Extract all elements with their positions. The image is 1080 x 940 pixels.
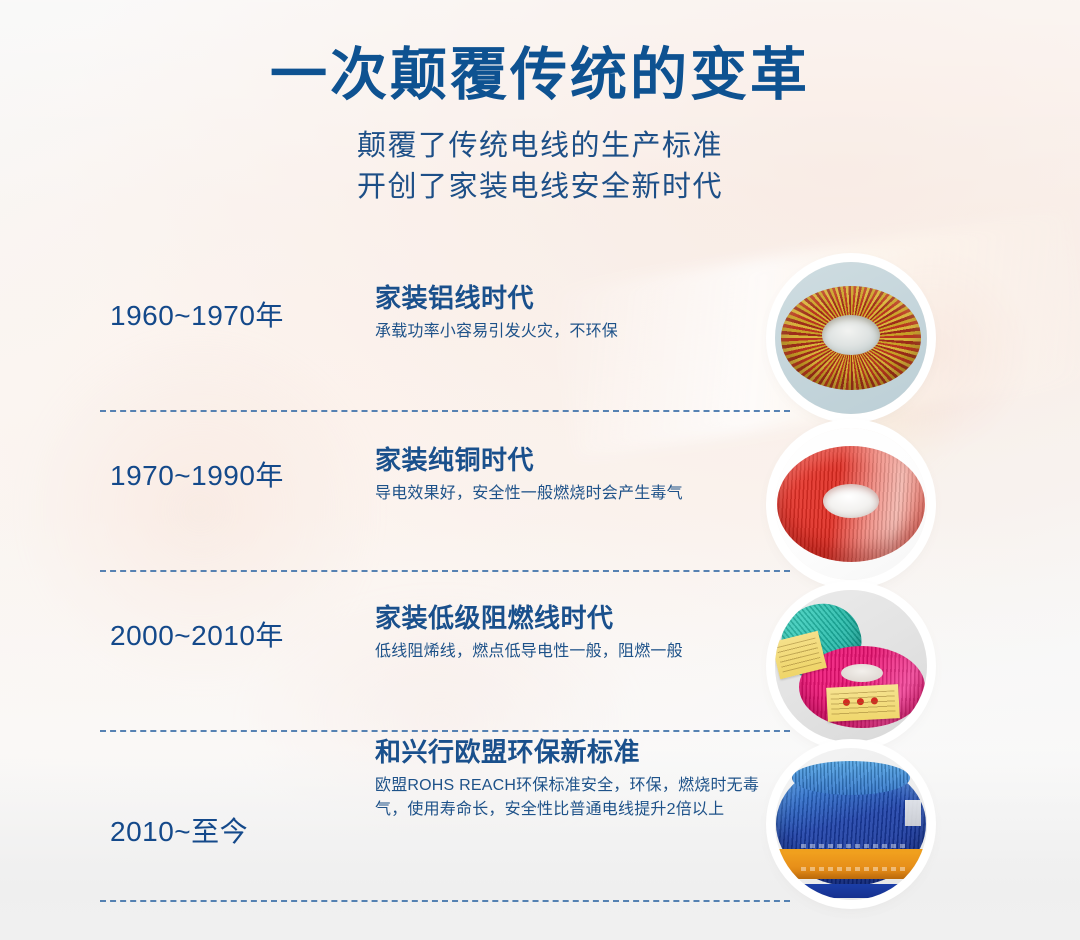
timeline-row-desc: 欧盟ROHS REACH环保标准安全，环保，燃烧时无毒气，使用寿命长，安全性比普… [375, 774, 765, 822]
photo-scene [775, 590, 927, 742]
photo-scene [775, 262, 927, 414]
subtitle-line-1: 颠覆了传统电线的生产标准 [0, 126, 1080, 167]
wire-coil-hole [822, 315, 880, 355]
timeline-year-label: 1960~1970年 [110, 294, 284, 334]
pink-teal-wire-coil-photo[interactable] [775, 590, 927, 742]
timeline-row-title: 家装低级阻燃线时代 [375, 598, 775, 635]
timeline-copy: 家装低级阻燃线时代 低线阻烯线，燃点低导电性一般，阻燃一般 [375, 598, 775, 664]
coil-print-text-line [801, 867, 905, 871]
yellow-red-twisted-wire-coil-photo[interactable] [775, 262, 927, 414]
timeline-year-label: 2010~至今 [110, 810, 248, 850]
timeline-year-label: 1970~1990年 [110, 454, 284, 494]
blue-wire-coil-photo[interactable] [775, 748, 927, 900]
timeline-copy: 家装纯铜时代 导电效果好，安全性一般燃烧时会产生毒气 [375, 440, 775, 506]
timeline-row-title: 家装纯铜时代 [375, 440, 775, 477]
timeline-year-label: 2000~2010年 [110, 614, 284, 654]
coil-print-text-line [801, 844, 905, 848]
product-label-tag-icon [826, 684, 900, 722]
side-label-tag-icon [905, 800, 921, 826]
orange-label-band-icon [776, 849, 926, 879]
timeline-copy: 和兴行欧盟环保新标准 欧盟ROHS REACH环保标准安全，环保，燃烧时无毒气，… [375, 732, 765, 822]
timeline-row-desc: 承载功率小容易引发火灾，不环保 [375, 320, 775, 344]
subtitle-block: 颠覆了传统电线的生产标准 开创了家装电线安全新时代 [0, 126, 1080, 208]
timeline-row-title: 家装铝线时代 [375, 278, 775, 315]
wire-coil-bottom-face [776, 884, 926, 898]
photo-scene [775, 748, 927, 900]
page-title: 一次颠覆传统的变革 [0, 0, 1080, 108]
label-seal-dot-icon [857, 698, 864, 705]
timeline-row-title: 和兴行欧盟环保新标准 [375, 732, 765, 769]
timeline-copy: 家装铝线时代 承载功率小容易引发火灾，不环保 [375, 278, 775, 344]
wire-coil-top-face [792, 761, 910, 795]
wire-coil-hole [823, 484, 879, 518]
timeline-row-desc: 低线阻烯线，燃点低导电性一般，阻燃一般 [375, 640, 775, 664]
wire-coil-hole [841, 664, 883, 682]
label-seal-dot-icon [843, 699, 850, 706]
timeline-divider [100, 900, 790, 902]
red-wire-coil-photo[interactable] [775, 428, 927, 580]
timeline-row-desc: 导电效果好，安全性一般燃烧时会产生毒气 [375, 482, 775, 506]
label-seal-dot-icon [871, 697, 878, 704]
photo-scene [775, 428, 927, 580]
subtitle-line-2: 开创了家装电线安全新时代 [0, 167, 1080, 208]
promo-poster: 一次颠覆传统的变革 颠覆了传统电线的生产标准 开创了家装电线安全新时代 1960… [0, 0, 1080, 940]
poster-header: 一次颠覆传统的变革 颠覆了传统电线的生产标准 开创了家装电线安全新时代 [0, 0, 1080, 208]
